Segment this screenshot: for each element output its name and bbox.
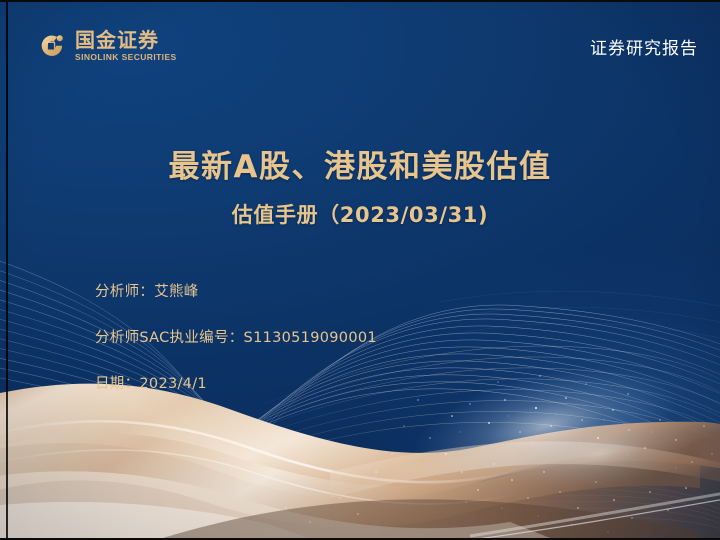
report-cover-slide: 国金证券 SINOLINK SECURITIES 证券研究报告 最新A股、港股和… xyxy=(0,0,720,540)
logo-wordmark: 国金证券 SINOLINK SECURITIES xyxy=(75,30,177,62)
analyst-sac-line: 分析师SAC执业编号：S1130519090001 xyxy=(95,326,377,347)
report-type-tag: 证券研究报告 xyxy=(590,34,698,59)
analyst-name-line: 分析师：艾熊峰 xyxy=(95,280,377,301)
slide-header: 国金证券 SINOLINK SECURITIES 证券研究报告 xyxy=(0,2,720,94)
page-title: 最新A股、港股和美股估值 xyxy=(0,150,720,186)
logo-name-en: SINOLINK SECURITIES xyxy=(75,53,177,62)
analyst-info-block: 分析师：艾熊峰 分析师SAC执业编号：S1130519090001 日期：202… xyxy=(95,280,377,393)
report-date-line: 日期：2023/4/1 xyxy=(95,372,377,393)
company-logo: 国金证券 SINOLINK SECURITIES xyxy=(38,30,177,62)
sinolink-ring-icon xyxy=(38,32,66,60)
logo-name-cn: 国金证券 xyxy=(75,30,177,50)
title-block: 最新A股、港股和美股估值 估值手册（2023/03/31) xyxy=(0,150,720,229)
page-subtitle: 估值手册（2023/03/31) xyxy=(0,199,720,229)
